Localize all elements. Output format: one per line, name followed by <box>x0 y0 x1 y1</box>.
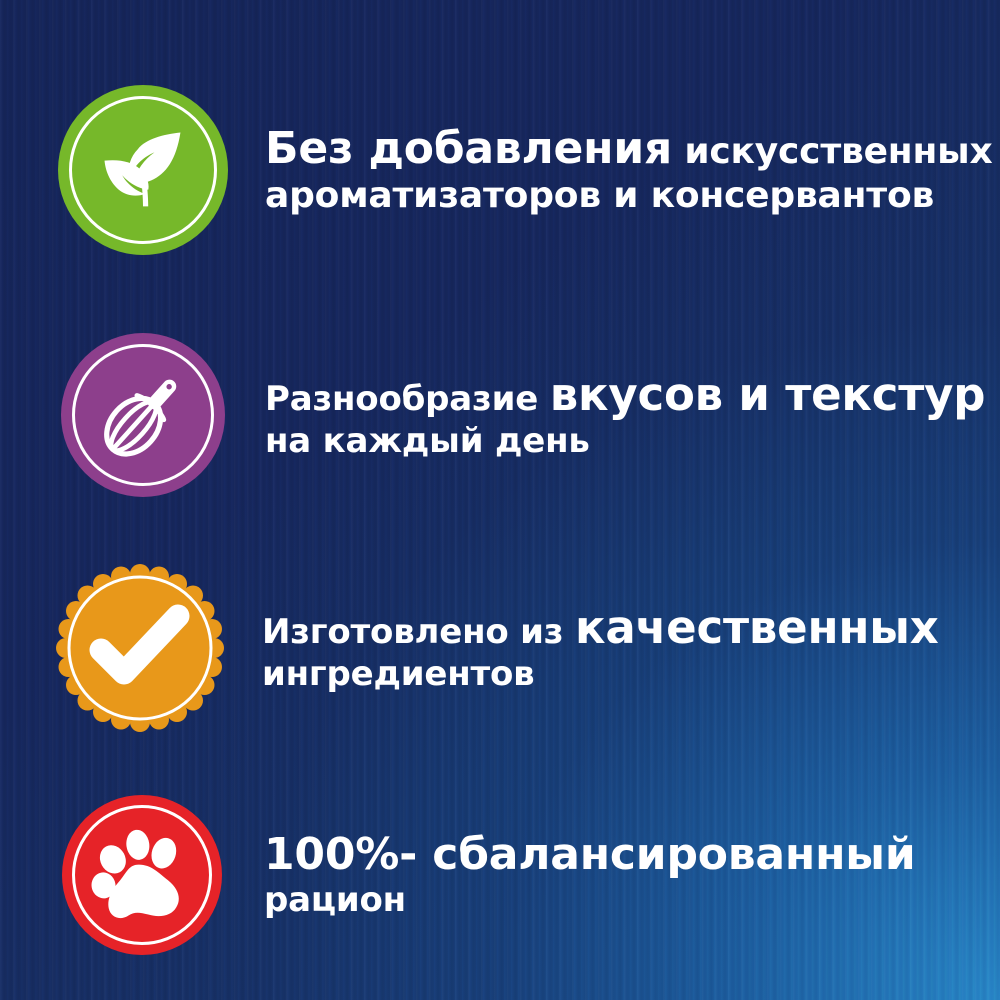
headline-line2-4: рацион <box>264 882 964 918</box>
feature-row-no-additives: Без добавления искусственных ароматизато… <box>0 70 1000 270</box>
rosette-shape <box>52 560 228 736</box>
headline-bold-3: качественных <box>575 601 939 654</box>
headline-bold-1: Без добавления <box>265 123 672 174</box>
promo-poster: Без добавления искусственных ароматизато… <box>0 0 1000 1000</box>
feature-text-balanced: 100%- сбалансированный рацион <box>264 831 964 918</box>
headline-line2-1: ароматизаторов и консервантов <box>265 177 965 216</box>
headline-rest-1: искусственных <box>672 131 992 172</box>
headline-lead-2: Разнообразие <box>265 379 550 419</box>
whisk-badge-circle <box>61 333 225 497</box>
paw-badge <box>32 785 252 965</box>
paw-icon <box>90 823 194 927</box>
leaf-badge-circle <box>58 85 228 255</box>
feature-row-quality: Изготовлено из качественных ингредиентов <box>0 548 1000 748</box>
feature-text-variety: Разнообразие вкусов и текстур на каждый … <box>265 371 965 460</box>
check-badge-rosette <box>52 560 228 736</box>
headline-line2-3: ингредиентов <box>262 656 962 692</box>
feature-row-balanced: 100%- сбалансированный рацион <box>0 785 1000 965</box>
check-badge <box>30 548 250 748</box>
headline-line2-2: на каждый день <box>265 423 965 459</box>
headline-lead-3: Изготовлено из <box>262 612 575 652</box>
paw-badge-circle <box>62 795 222 955</box>
leaf-icon <box>91 118 195 222</box>
headline-line1-4: 100%- сбалансированный <box>264 831 964 878</box>
whisk-badge <box>33 315 253 515</box>
whisk-icon <box>91 363 195 467</box>
headline-bold-2: вкусов и текстур <box>550 368 986 421</box>
feature-row-variety: Разнообразие вкусов и текстур на каждый … <box>0 315 1000 515</box>
feature-text-no-additives: Без добавления искусственных ароматизато… <box>265 125 965 216</box>
feature-text-quality: Изготовлено из качественных ингредиентов <box>262 604 962 693</box>
leaf-badge <box>33 70 253 270</box>
